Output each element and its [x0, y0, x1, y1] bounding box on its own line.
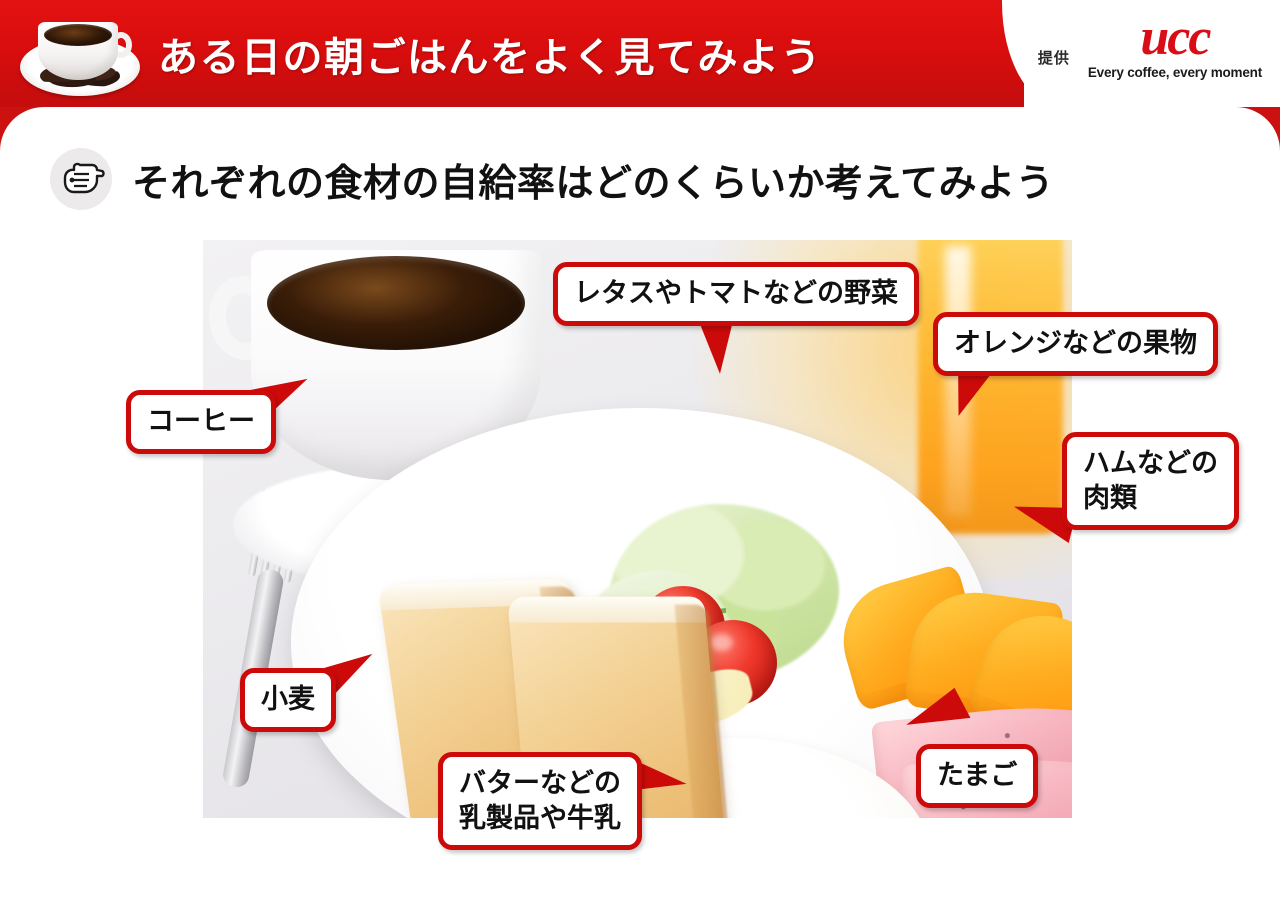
pointing-hand-icon	[50, 148, 112, 210]
provided-by-label: 提供	[1038, 25, 1070, 68]
page-title: ある日の朝ごはんをよく見てみよう	[158, 25, 822, 83]
coffee-surface	[267, 256, 525, 350]
brand-block: 提供 ucc Every coffee, every moment	[1038, 14, 1262, 80]
callout-egg[interactable]: たまご	[916, 744, 1038, 808]
callout-coffee[interactable]: コーヒー	[126, 390, 276, 454]
coffee-liquid-shape	[44, 24, 112, 46]
ucc-tagline: Every coffee, every moment	[1088, 65, 1262, 80]
header-bar: ある日の朝ごはんをよく見てみよう 提供 ucc Every coffee, ev…	[0, 0, 1280, 107]
ucc-wordmark: ucc	[1088, 14, 1262, 62]
callout-dairy[interactable]: バターなどの 乳製品や牛乳	[438, 752, 642, 850]
slide-page: ある日の朝ごはんをよく見てみよう 提供 ucc Every coffee, ev…	[0, 0, 1280, 905]
coffee-cup-icon	[14, 8, 146, 102]
subtitle-text: それぞれの食材の自給率はどのくらいか考えてみよう	[132, 152, 1054, 207]
callout-vegetables[interactable]: レタスやトマトなどの野菜	[553, 262, 919, 326]
callout-wheat[interactable]: 小麦	[240, 668, 336, 732]
ucc-logo: ucc Every coffee, every moment	[1088, 14, 1262, 80]
callout-tail-vegetables	[698, 317, 738, 375]
callout-fruit[interactable]: オレンジなどの果物	[933, 312, 1218, 376]
callout-meat[interactable]: ハムなどの 肉類	[1062, 432, 1239, 530]
subtitle-row: それぞれの食材の自給率はどのくらいか考えてみよう	[50, 148, 1054, 210]
tomato-highlight	[710, 634, 733, 651]
